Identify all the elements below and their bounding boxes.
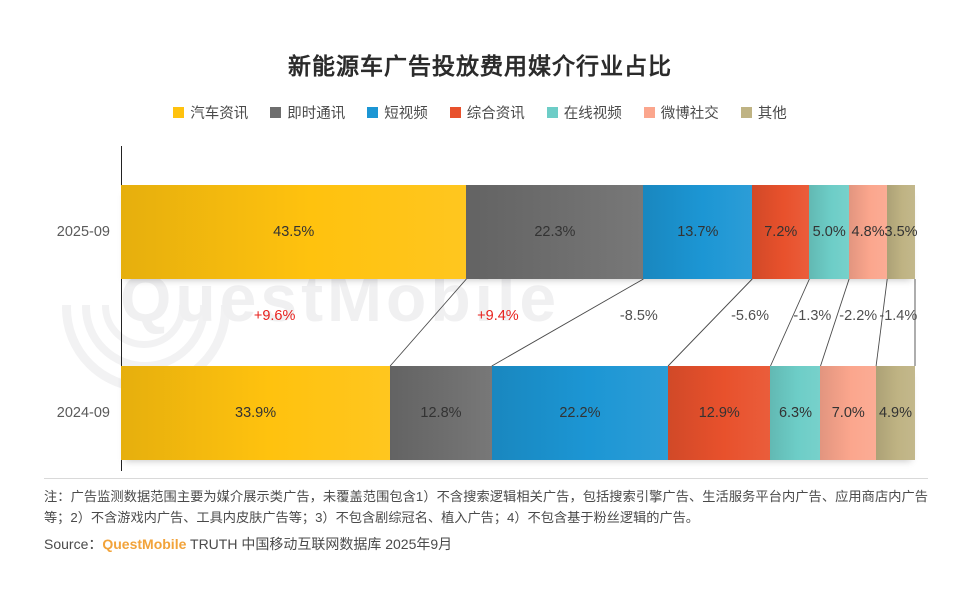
bar-segment-value: 12.8% — [420, 405, 461, 421]
bar-segment-综合资讯[interactable]: 12.9% — [668, 366, 770, 460]
bar-segment-短视频[interactable]: 22.2% — [492, 366, 668, 460]
bar-segment-微博社交[interactable]: 7.0% — [820, 366, 876, 460]
bar-segment-汽车资讯[interactable]: 33.9% — [121, 366, 390, 460]
bar-segment-value: 4.8% — [852, 224, 885, 240]
bar-segment-综合资讯[interactable]: 7.2% — [752, 185, 809, 279]
bar-segment-汽车资讯[interactable]: 43.5% — [121, 185, 466, 279]
bar-segment-其他[interactable]: 3.5% — [887, 185, 915, 279]
bar-segment-短视频[interactable]: 13.7% — [643, 185, 752, 279]
bar-segment-即时通讯[interactable]: 22.3% — [466, 185, 643, 279]
delta-label-短视频: -8.5% — [620, 308, 658, 324]
footer: 注：广告监测数据范围主要为媒介展示类广告，未覆盖范围包含1）不含搜索逻辑相关广告… — [44, 486, 928, 554]
bar-segment-value: 4.9% — [879, 405, 912, 421]
delta-label-在线视频: -1.3% — [793, 308, 831, 324]
bar-segment-在线视频[interactable]: 5.0% — [809, 185, 849, 279]
bar-segment-value: 7.0% — [832, 405, 865, 421]
bar-segment-value: 22.2% — [559, 405, 600, 421]
bar-segment-value: 7.2% — [764, 224, 797, 240]
bar-segment-value: 3.5% — [885, 224, 918, 240]
stacked-bar-2025-09: 43.5%22.3%13.7%7.2%5.0%4.8%3.5% — [121, 185, 915, 279]
footer-divider — [44, 478, 928, 479]
chart-container: QuestMobile 新能源车广告投放费用媒介行业占比 汽车资讯即时通讯短视频… — [0, 0, 960, 592]
bar-segment-value: 12.9% — [699, 405, 740, 421]
delta-labels: +9.6%+9.4%-8.5%-5.6%-1.3%-2.2%-1.4% — [121, 300, 915, 344]
delta-label-其他: -1.4% — [879, 308, 917, 324]
delta-label-即时通讯: +9.4% — [477, 308, 519, 324]
bar-segment-在线视频[interactable]: 6.3% — [770, 366, 820, 460]
bar-segment-即时通讯[interactable]: 12.8% — [390, 366, 492, 460]
bar-segment-value: 6.3% — [779, 405, 812, 421]
source-rest: TRUTH 中国移动互联网数据库 2025年9月 — [186, 536, 452, 552]
bar-segment-其他[interactable]: 4.9% — [876, 366, 915, 460]
source-line: Source：QuestMobile TRUTH 中国移动互联网数据库 2025… — [44, 534, 928, 554]
bar-segment-value: 13.7% — [677, 224, 718, 240]
source-prefix: Source： — [44, 536, 102, 552]
bar-row-2025-09: 43.5%22.3%13.7%7.2%5.0%4.8%3.5% — [121, 185, 915, 279]
bar-segment-value: 5.0% — [813, 224, 846, 240]
category-label-2025-09: 2025-09 — [10, 224, 110, 240]
delta-label-微博社交: -2.2% — [839, 308, 877, 324]
delta-label-汽车资讯: +9.6% — [254, 308, 296, 324]
bar-segment-微博社交[interactable]: 4.8% — [849, 185, 887, 279]
source-brand: QuestMobile — [102, 536, 186, 552]
stacked-bar-2024-09: 33.9%12.8%22.2%12.9%6.3%7.0%4.9% — [121, 366, 915, 460]
bar-segment-value: 43.5% — [273, 224, 314, 240]
bar-row-2024-09: 33.9%12.8%22.2%12.9%6.3%7.0%4.9% — [121, 366, 915, 460]
category-label-2024-09: 2024-09 — [10, 405, 110, 421]
delta-label-综合资讯: -5.6% — [731, 308, 769, 324]
bar-segment-value: 22.3% — [534, 224, 575, 240]
bar-segment-value: 33.9% — [235, 405, 276, 421]
footnote-text: 注：广告监测数据范围主要为媒介展示类广告，未覆盖范围包含1）不含搜索逻辑相关广告… — [44, 486, 928, 528]
